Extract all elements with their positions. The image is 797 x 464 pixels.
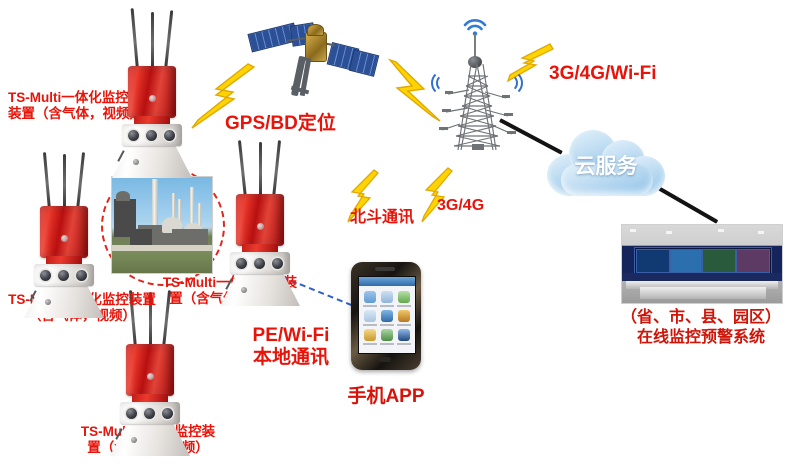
cloud-label: 云服务 — [545, 150, 667, 180]
camera-lens — [162, 408, 173, 419]
link-gps-label: GPS/BD定位 — [225, 112, 336, 135]
camera-lens — [272, 258, 283, 269]
diagram-canvas: 云服务 — [0, 0, 797, 464]
app-icon[interactable] — [381, 291, 393, 303]
app-icon[interactable] — [398, 329, 410, 341]
camera-lens — [76, 270, 87, 281]
app-icon[interactable] — [398, 291, 410, 303]
link-3g4g-wifi-label: 3G/4G/Wi-Fi — [549, 62, 657, 85]
signal-wave-left-2 — [431, 70, 457, 96]
tablet-screen[interactable] — [358, 276, 416, 354]
app-icon[interactable] — [364, 310, 376, 322]
app-titlebar — [359, 277, 415, 286]
device-top-left[interactable] — [106, 8, 198, 158]
camera-lens — [40, 270, 51, 281]
device-top-left-label: TS-Multi一体化监控 装置（含气体，视频） — [8, 90, 148, 123]
home-button[interactable] — [379, 357, 391, 362]
mobile-app-label: 手机APP — [336, 385, 436, 408]
app-icon[interactable] — [381, 329, 393, 341]
app-icon[interactable] — [398, 310, 410, 322]
control-room-label: （省、市、县、园区） 在线监控预警系统 — [605, 308, 797, 348]
camera-lens — [254, 258, 265, 269]
plant-photo — [111, 176, 213, 274]
cloud-service-node[interactable]: 云服务 — [545, 126, 667, 198]
device-mid-left[interactable] — [18, 152, 110, 302]
satellite — [247, 12, 377, 108]
camera-lens — [128, 130, 139, 141]
signal-wave-right-2 — [497, 70, 523, 96]
camera-lens — [144, 408, 155, 419]
camera-lens — [236, 258, 247, 269]
link-3g4g-label: 3G/4G — [437, 196, 484, 216]
camera-lens — [164, 130, 175, 141]
camera-lens — [58, 270, 69, 281]
link-beidou-label: 北斗通讯 — [350, 208, 414, 228]
app-icon[interactable] — [364, 329, 376, 341]
link-local-label: PE/Wi-Fi 本地通讯 — [236, 325, 346, 369]
camera-lens — [146, 130, 157, 141]
device-speaker — [375, 267, 395, 271]
app-icon[interactable] — [364, 291, 376, 303]
device-center[interactable] — [214, 140, 306, 290]
camera-lens — [126, 408, 137, 419]
mobile-device[interactable] — [351, 262, 421, 370]
cell-tower — [424, 18, 528, 148]
control-room-photo — [621, 224, 783, 304]
app-icon[interactable] — [381, 310, 393, 322]
